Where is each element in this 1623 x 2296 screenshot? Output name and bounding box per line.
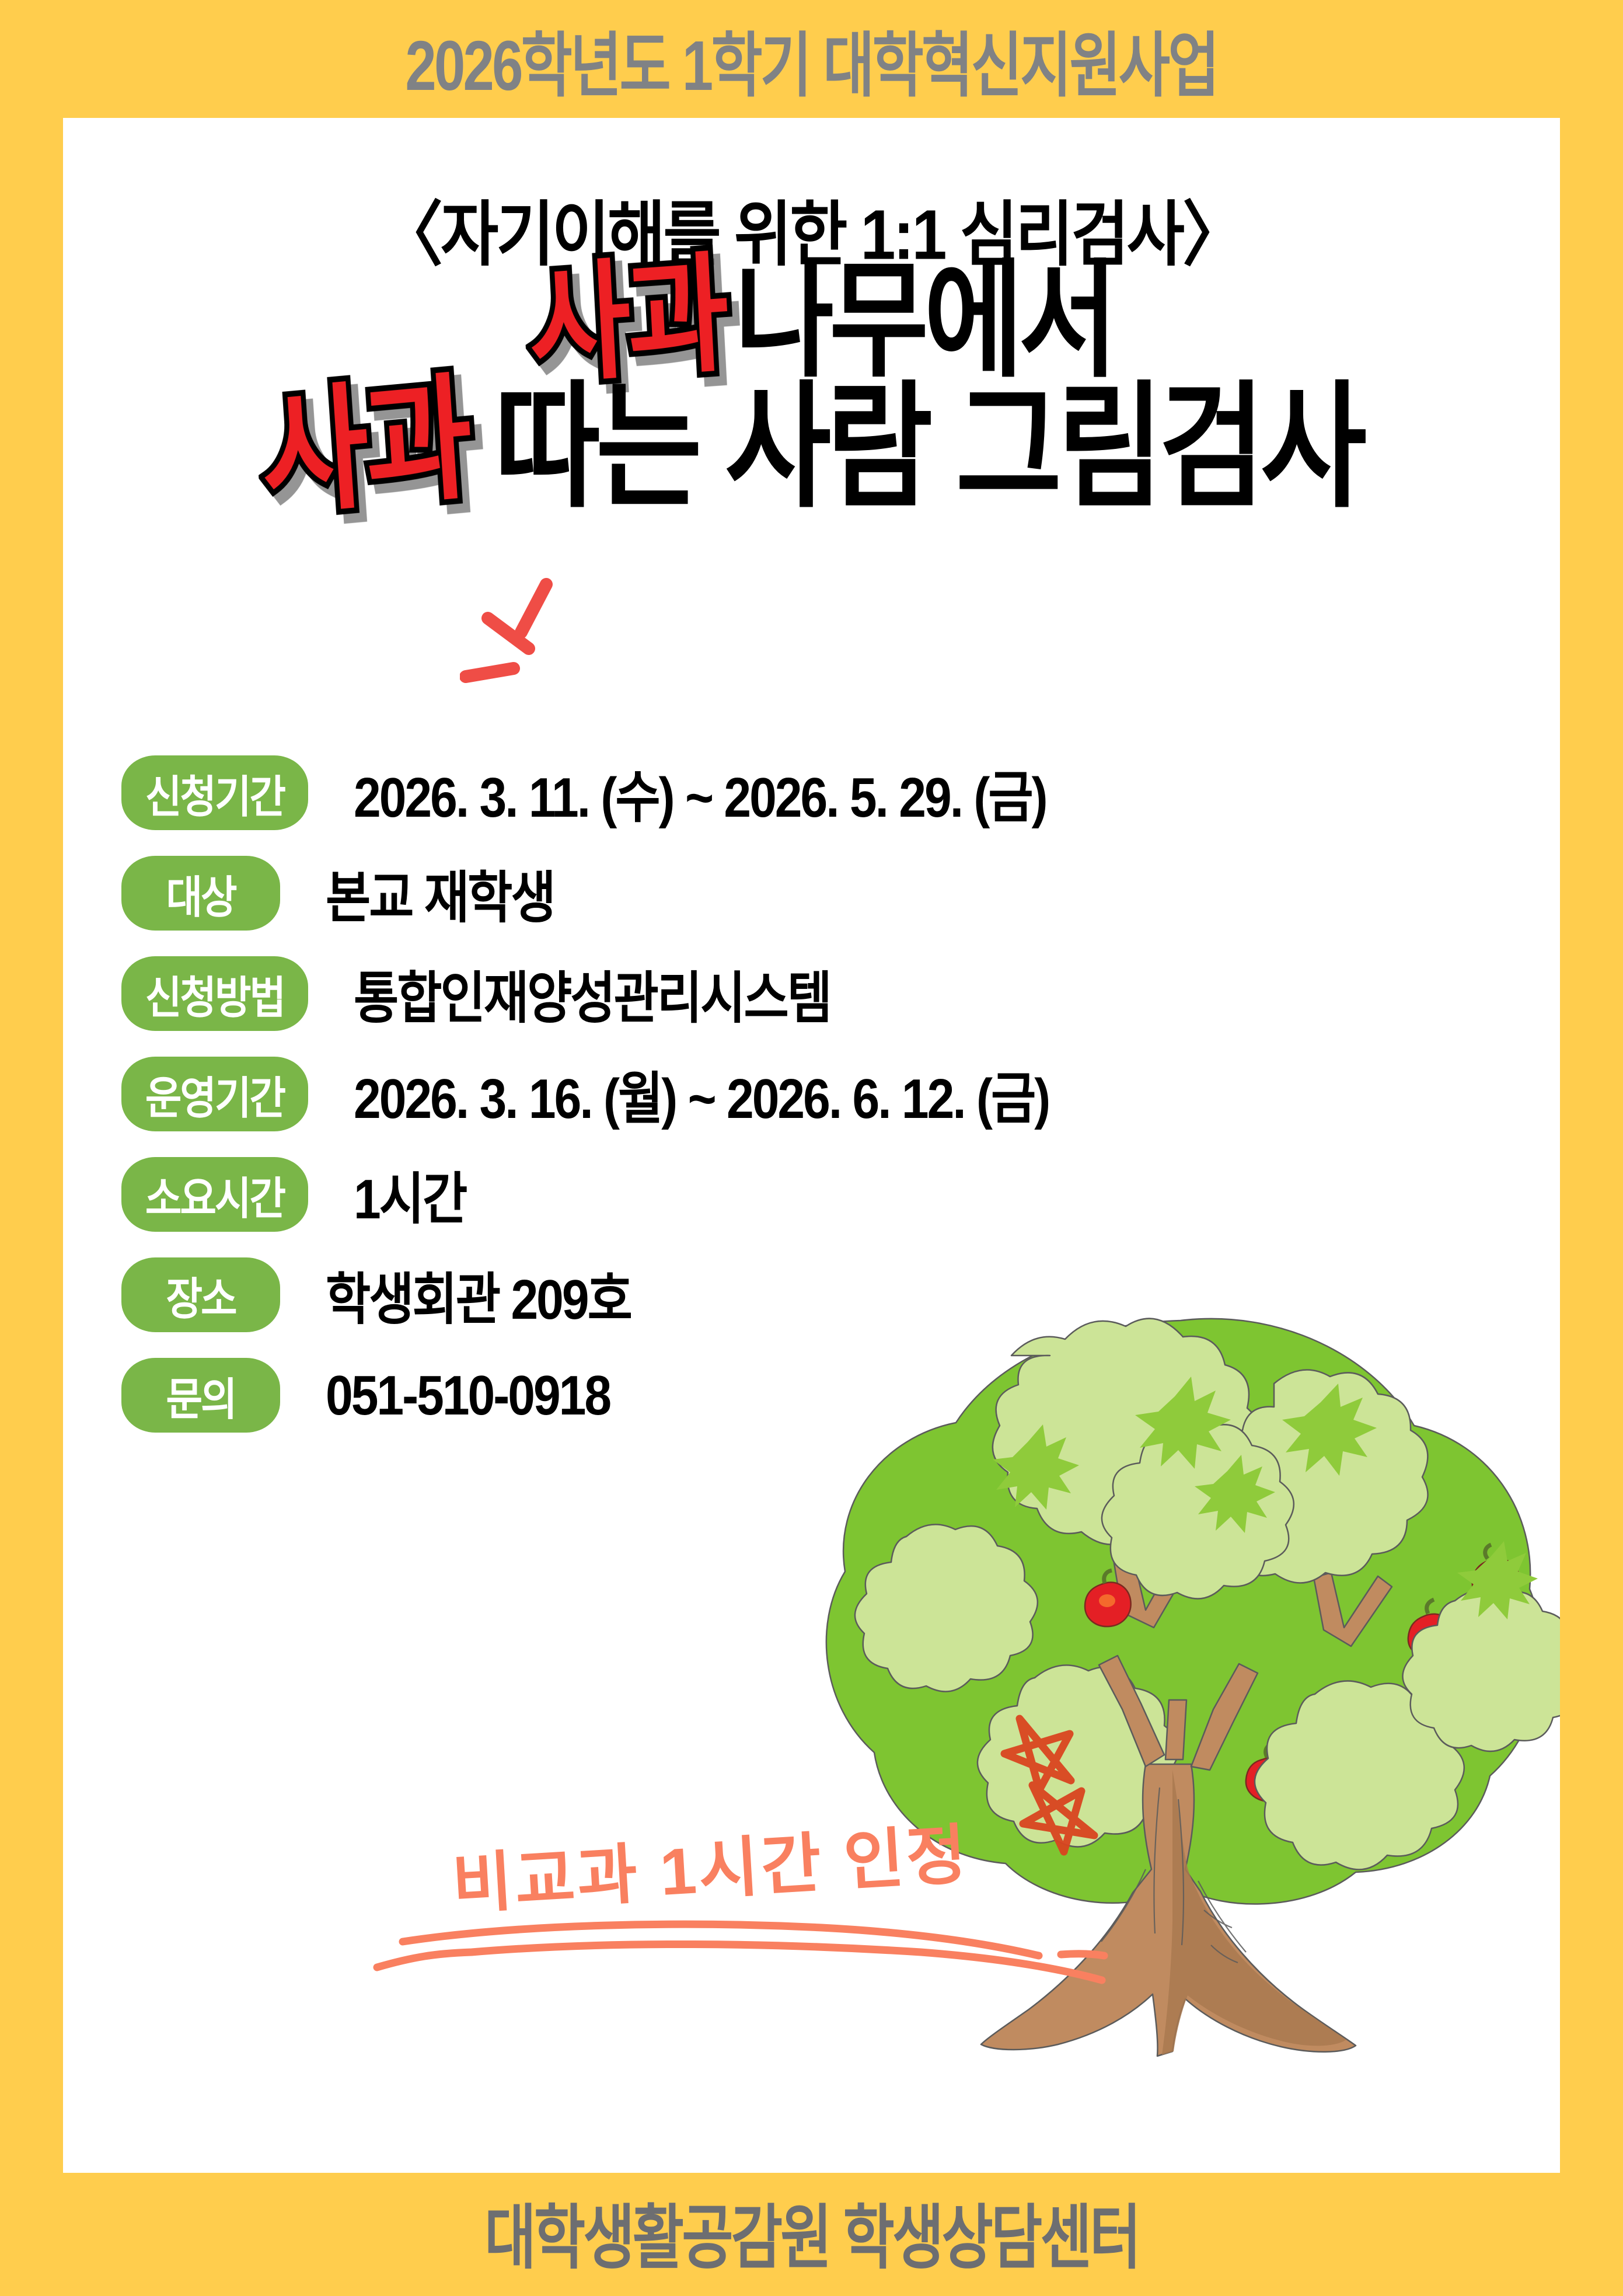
info-value-text: 051-510-0918 bbox=[326, 1363, 610, 1428]
handwritten-note: 비교과 1시간 인정 bbox=[367, 1811, 1137, 2004]
info-label-pill: 신청방법 bbox=[121, 956, 308, 1031]
poster-root: 2026학년도 1학기 대학혁신지원사업 〈자기이해를 위한 1:1 심리검사〉… bbox=[0, 0, 1623, 2296]
info-label-text: 장소 bbox=[166, 1263, 235, 1328]
info-value-text: 2026. 3. 16. (월) ~ 2026. 6. 12. (금) bbox=[354, 1054, 1049, 1134]
top-banner: 2026학년도 1학기 대학혁신지원사업 bbox=[0, 13, 1623, 106]
info-label-pill: 문의 bbox=[121, 1358, 280, 1433]
info-value-text: 학생회관 209호 bbox=[326, 1255, 631, 1335]
info-row: 대상 본교 재학생 bbox=[121, 843, 1055, 943]
info-row: 운영기간 2026. 3. 16. (월) ~ 2026. 6. 12. (금) bbox=[121, 1044, 1055, 1144]
poster-card: 〈자기이해를 위한 1:1 심리검사〉 사과 나무에서 사과 따는 사람 그림검… bbox=[63, 118, 1560, 2173]
poster-title-block: 사과 나무에서 사과 따는 사람 그림검사 bbox=[63, 267, 1560, 526]
title-rest-2: 따는 사람 그림검사 bbox=[494, 368, 1362, 526]
info-row: 신청기간 2026. 3. 11. (수) ~ 2026. 5. 29. (금) bbox=[121, 743, 1055, 843]
handwritten-note-text: 비교과 1시간 인정 bbox=[449, 1802, 971, 1926]
info-value-text: 본교 재학생 bbox=[326, 853, 554, 933]
footer: 대학생활공감원 학생상담센터 bbox=[0, 2187, 1623, 2275]
info-label-text: 문의 bbox=[166, 1363, 235, 1428]
apple-tree-illustration bbox=[795, 1285, 1560, 2173]
footer-organization-text: 대학생활공감원 학생상담센터 bbox=[484, 2180, 1139, 2282]
title-highlight-apple-2: 사과 bbox=[256, 360, 474, 536]
info-label-text: 신청기간 bbox=[145, 761, 284, 825]
info-value-text: 1시간 bbox=[354, 1154, 466, 1235]
info-label-text: 운영기간 bbox=[145, 1062, 284, 1127]
info-label-pill: 신청기간 bbox=[121, 755, 308, 830]
info-label-text: 신청방법 bbox=[145, 961, 284, 1026]
handdrawn-underline-icon bbox=[367, 1911, 1137, 1999]
info-label-pill: 장소 bbox=[121, 1257, 280, 1332]
top-banner-text: 2026학년도 1학기 대학혁신지원사업 bbox=[406, 9, 1217, 110]
info-row: 소요시간 1시간 bbox=[121, 1144, 1055, 1245]
info-value-text: 2026. 3. 11. (수) ~ 2026. 5. 29. (금) bbox=[354, 752, 1046, 833]
info-row: 신청방법 통합인재양성관리시스템 bbox=[121, 943, 1055, 1044]
info-label-pill: 운영기간 bbox=[121, 1057, 308, 1131]
info-label-pill: 대상 bbox=[121, 856, 280, 931]
info-label-pill: 소요시간 bbox=[121, 1157, 308, 1232]
info-label-text: 대상 bbox=[166, 861, 235, 926]
info-label-text: 소요시간 bbox=[145, 1162, 284, 1227]
sparkle-lines-icon bbox=[460, 576, 612, 716]
title-line-2: 사과 따는 사람 그림검사 bbox=[69, 391, 1560, 526]
info-value-text: 통합인재양성관리시스템 bbox=[354, 953, 830, 1034]
